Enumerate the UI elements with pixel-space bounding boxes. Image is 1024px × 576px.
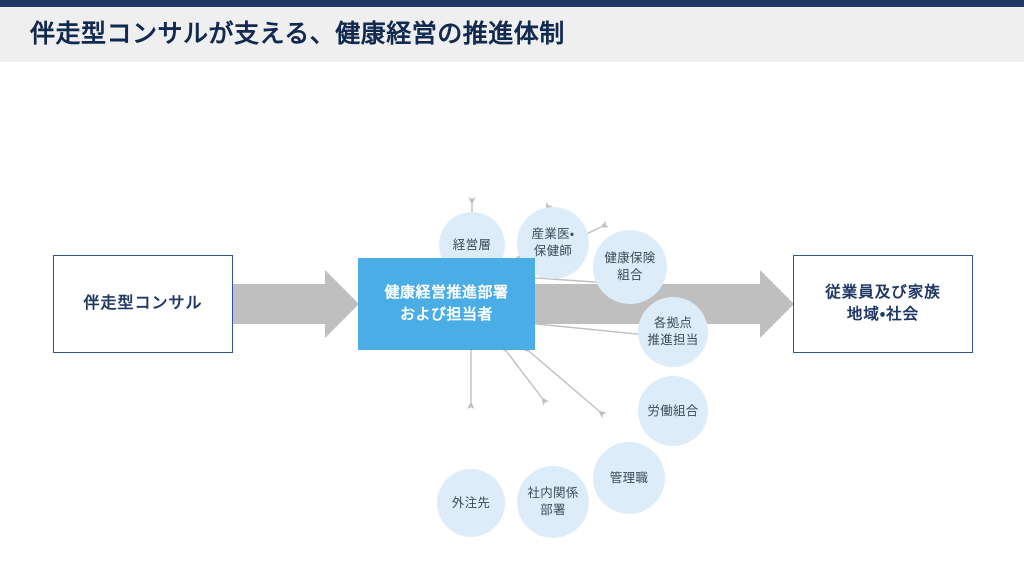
stakeholder-kanrishoku-line1: 管理職 bbox=[610, 471, 648, 485]
connector-center-kanrishoku bbox=[530, 352, 599, 411]
box-employees-community[interactable]: 従業員及び家族 地域・社会 bbox=[793, 255, 973, 353]
stakeholder-kakukyoten-line2: 推進担当 bbox=[647, 333, 698, 347]
stakeholder-sangyoi-line1: 産業医・ bbox=[532, 227, 575, 241]
stakeholder-kenpo[interactable]: 健康保険 組合 bbox=[593, 230, 667, 304]
box-health-management-dept[interactable]: 健康経営推進部署 および担当者 bbox=[358, 258, 535, 350]
page-title: 伴走型コンサルが支える、健康経営の推進体制 bbox=[30, 14, 565, 50]
slide-canvas: 伴走型コンサルが支える、健康経営の推進体制 bbox=[0, 0, 1024, 576]
box-outcome-line2: 地域・社会 bbox=[847, 306, 919, 323]
stakeholder-keieiso-line1: 経営層 bbox=[453, 238, 491, 252]
box-consultant-label: 伴走型コンサル bbox=[83, 292, 202, 315]
stakeholder-gaichusaki[interactable]: 外注先 bbox=[437, 469, 505, 537]
stakeholder-kanrishoku[interactable]: 管理職 bbox=[593, 442, 665, 514]
top-accent-rule bbox=[0, 0, 1024, 7]
stakeholder-shanaikankei-line1: 社内関係 bbox=[527, 486, 578, 500]
stakeholder-gaichusaki-line1: 外注先 bbox=[452, 496, 490, 510]
box-consultant[interactable]: 伴走型コンサル bbox=[53, 255, 233, 353]
stakeholder-kenpo-line2: 組合 bbox=[617, 268, 643, 282]
stakeholder-shanaikankei[interactable]: 社内関係 部署 bbox=[517, 466, 589, 538]
stakeholder-kenpo-line1: 健康保険 bbox=[604, 251, 655, 265]
box-outcome-line1: 従業員及び家族 bbox=[825, 284, 941, 301]
stakeholder-sangyoi-line2: 保健師 bbox=[534, 244, 572, 258]
box-center-line2: および担当者 bbox=[400, 306, 493, 323]
stakeholder-roudoukumiai[interactable]: 労働組合 bbox=[638, 376, 708, 446]
stakeholder-kakukyoten[interactable]: 各拠点 推進担当 bbox=[638, 297, 708, 367]
box-center-line1: 健康経営推進部署 bbox=[384, 284, 508, 301]
connector-center-roudoukumiai bbox=[537, 324, 637, 334]
stakeholder-shanaikankei-line2: 部署 bbox=[540, 503, 566, 517]
connector-center-shanaikankei bbox=[507, 352, 542, 398]
stakeholder-kakukyoten-line1: 各拠点 bbox=[654, 316, 692, 330]
stakeholder-roudoukumiai-line1: 労働組合 bbox=[647, 404, 698, 418]
diagram-area: 経営層 産業医・ 保健師 健康保険 組合 各拠点 推進担当 労働組合 bbox=[0, 62, 1024, 576]
